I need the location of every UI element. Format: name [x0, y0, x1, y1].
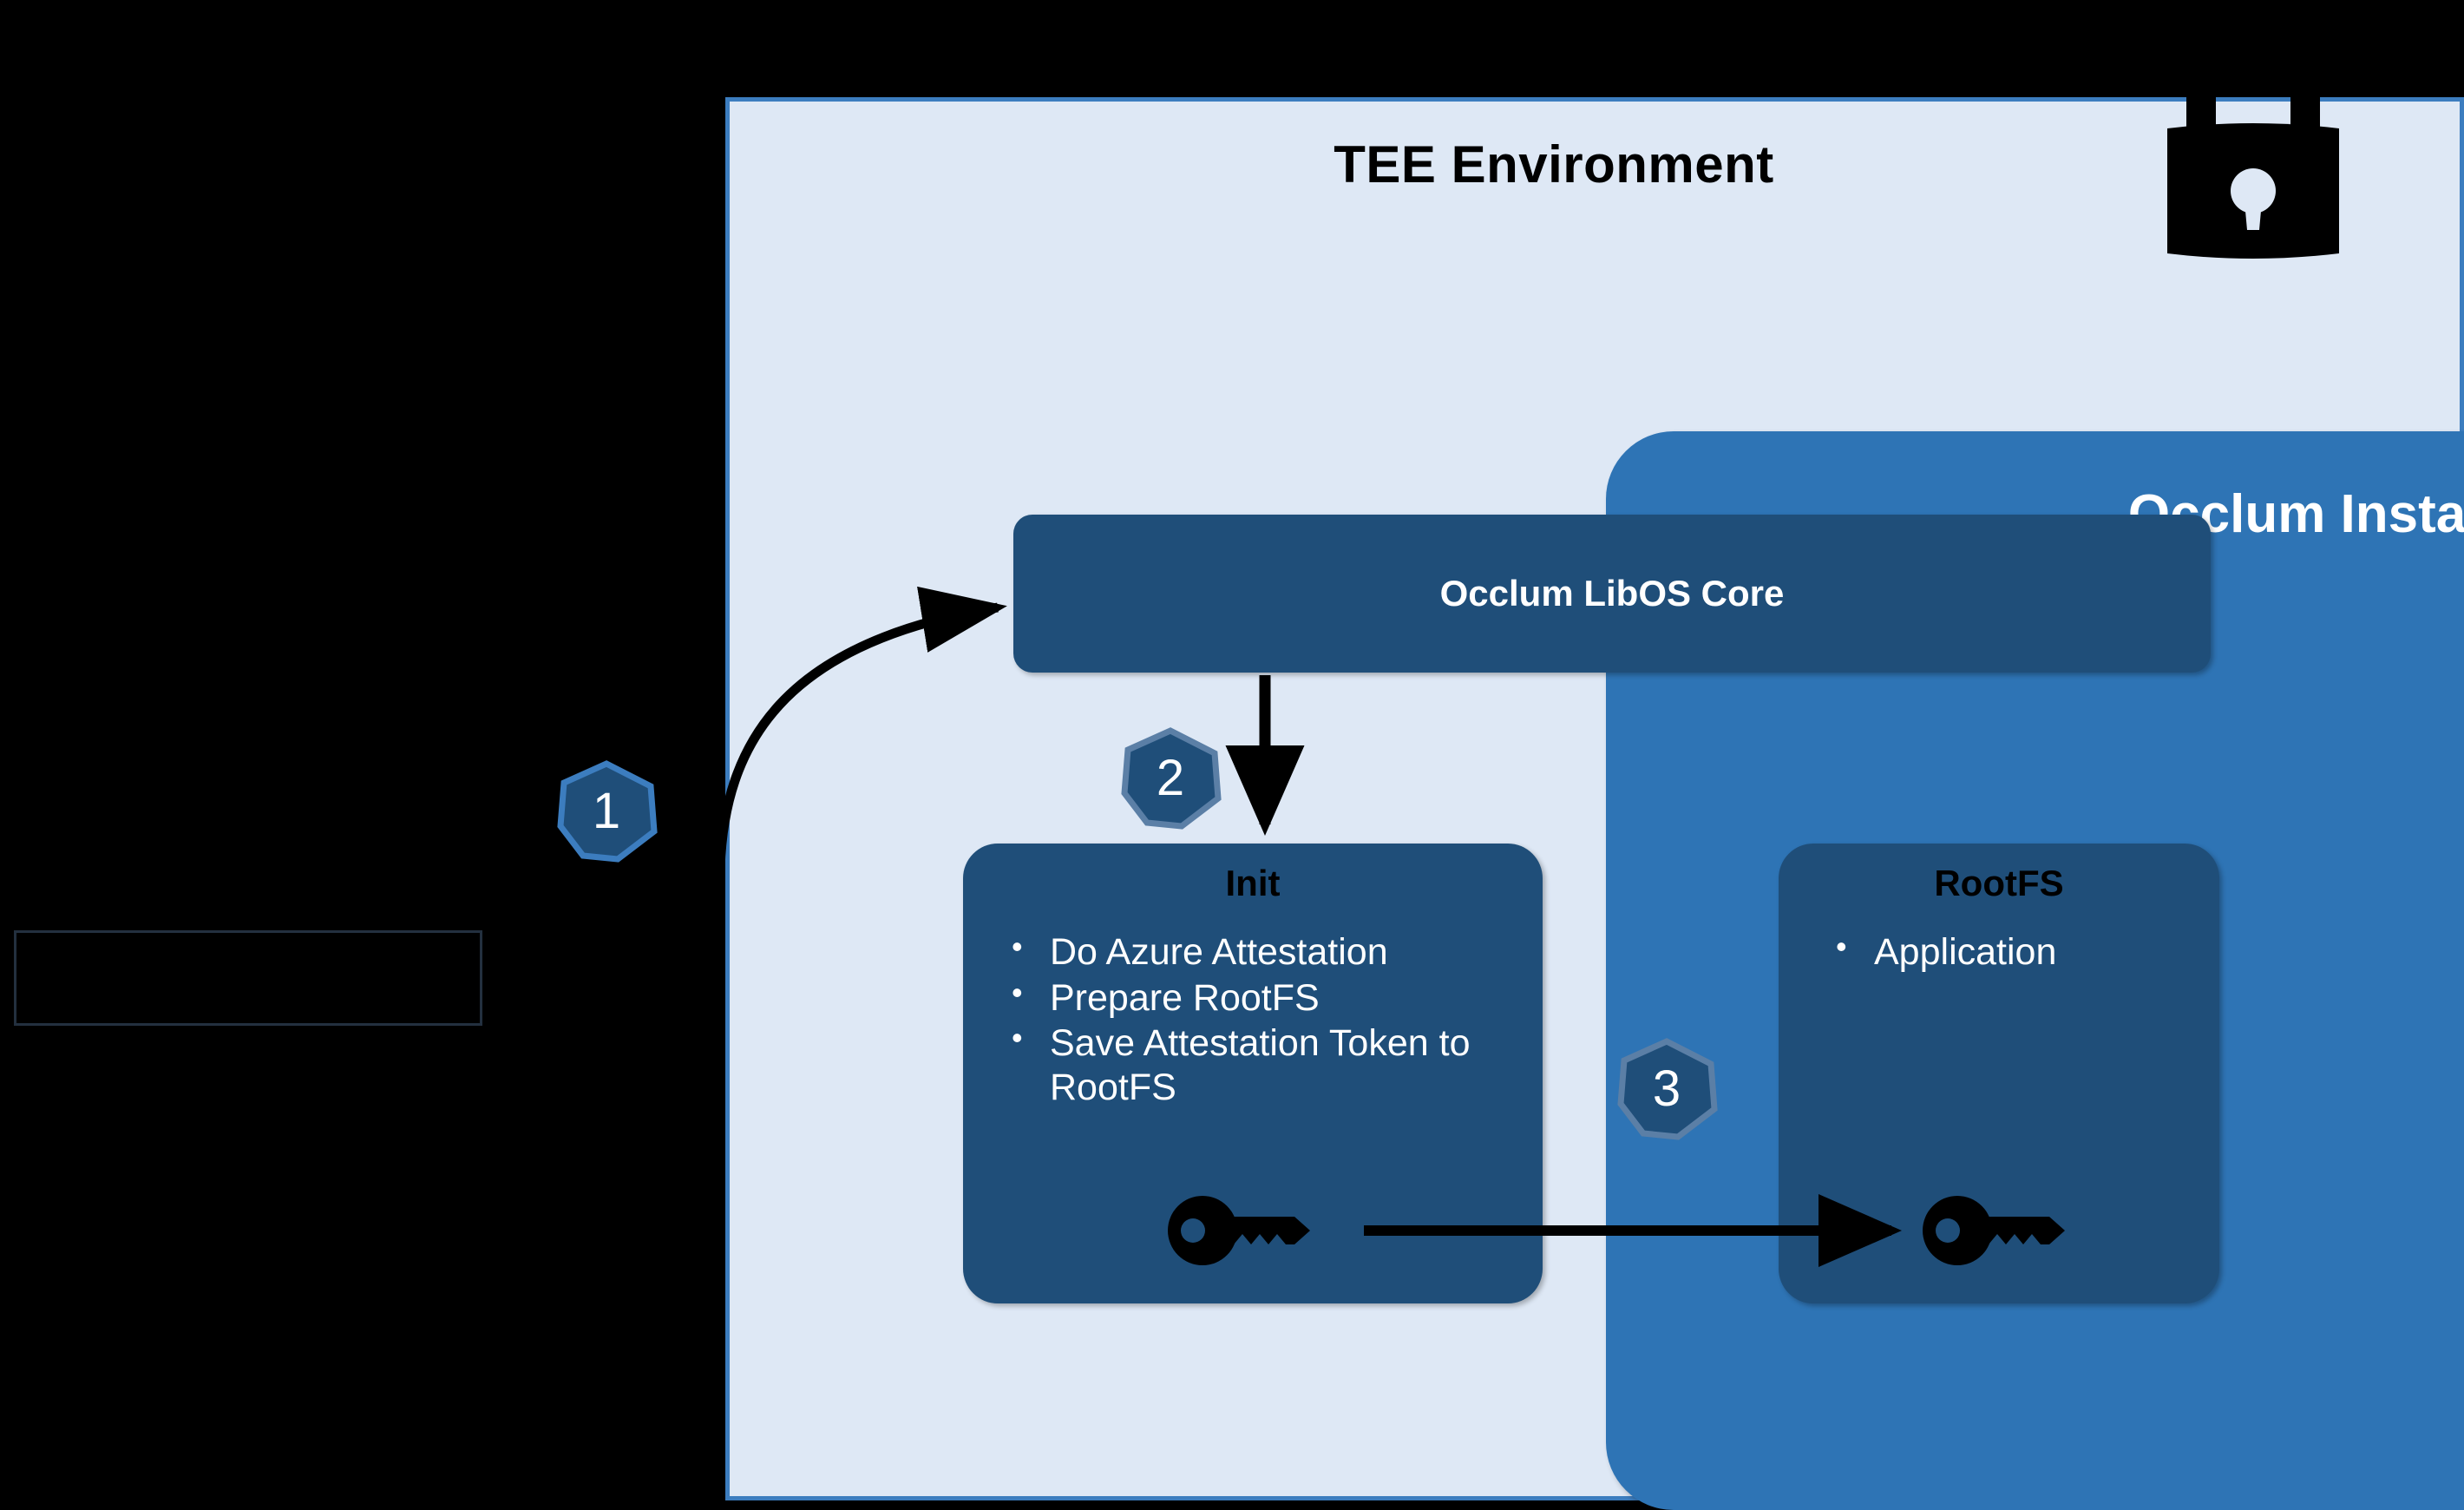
list-item: Do Azure Attestation: [999, 930, 1527, 975]
step-badge-1: 1: [555, 760, 658, 863]
rootfs-panel-title: RootFS: [1779, 863, 2219, 904]
placeholder-rectangle: [14, 930, 482, 1026]
key-icon: [1164, 1191, 1320, 1270]
init-bullet-list: Do Azure Attestation Prepare RootFS Save…: [999, 930, 1527, 1112]
list-item: Save Attestation Token to RootFS: [999, 1021, 1527, 1109]
list-item: Prepare RootFS: [999, 976, 1527, 1021]
occlum-libos-core-box: Occlum LibOS Core: [1013, 515, 2211, 673]
lock-icon: [2162, 52, 2344, 260]
step-badge-2: 2: [1119, 727, 1222, 830]
occlum-libos-core-label: Occlum LibOS Core: [1013, 515, 2211, 673]
rootfs-bullet-list: Application: [1824, 930, 2204, 976]
step-badge-3-number: 3: [1615, 1038, 1718, 1140]
step-badge-3: 3: [1615, 1038, 1718, 1140]
tee-environment-title: TEE Environment: [730, 135, 2378, 194]
init-panel-title: Init: [963, 863, 1543, 904]
key-icon: [1919, 1191, 2075, 1270]
step-badge-1-number: 1: [555, 760, 658, 863]
list-item: Application: [1824, 930, 2204, 975]
diagram-canvas: TEE Environment Occlum Instance Occlum L…: [0, 0, 2464, 1500]
step-badge-2-number: 2: [1119, 727, 1222, 830]
